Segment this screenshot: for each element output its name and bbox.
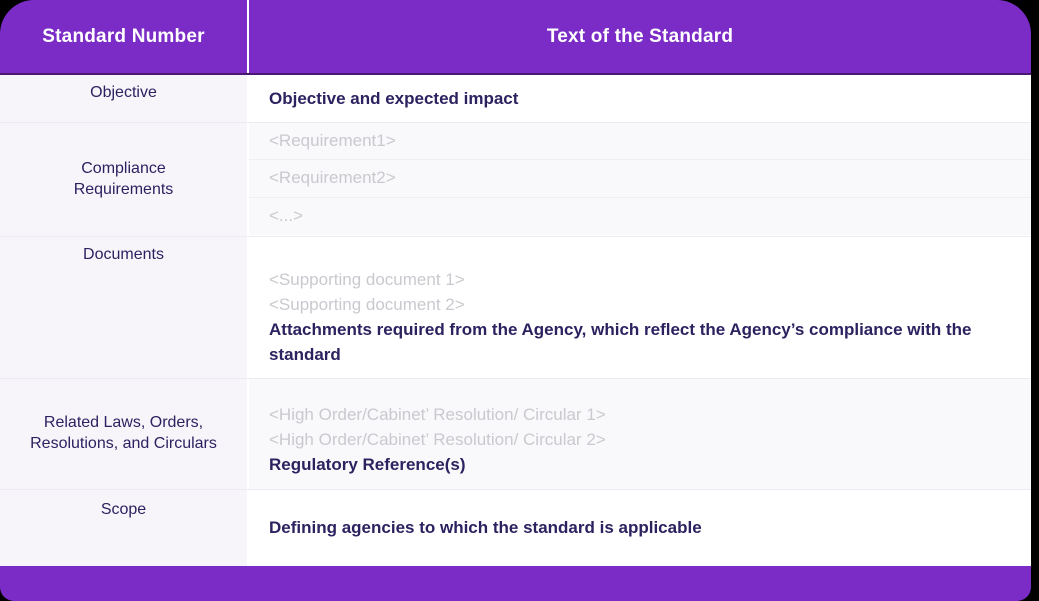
standard-template-table: Standard Number Text of the Standard Obj… <box>0 0 1034 589</box>
row-content-objective-cell: Objective and expected impact <box>249 75 1031 122</box>
list-item: <...> <box>249 198 1031 235</box>
table-row: Related Laws, Orders, Resolutions, and C… <box>0 379 1031 490</box>
table-row: Compliance Requirements <Requirement1> <… <box>0 123 1031 237</box>
row-content-compliance-cell: <Requirement1> <Requirement2> <...> <box>249 123 1031 236</box>
requirements-list: <Requirement1> <Requirement2> <...> <box>249 123 1031 236</box>
column-header-text-of-standard: Text of the Standard <box>249 0 1031 73</box>
row-content-related-laws: Regulatory Reference(s) <box>269 452 1009 477</box>
row-label-compliance-requirements-text: Compliance Requirements <box>74 159 174 201</box>
row-label-compliance-requirements: Compliance Requirements <box>0 123 249 236</box>
header-underline <box>0 73 1031 75</box>
supporting-document-placeholder-2: <Supporting document 2> <box>269 292 1009 317</box>
table-footer-bar <box>0 566 1031 601</box>
row-label-related-laws: Related Laws, Orders, Resolutions, and C… <box>0 379 249 489</box>
table-row: Objective Objective and expected impact <box>0 75 1031 123</box>
list-item: <Requirement1> <box>249 123 1031 160</box>
row-content-scope-cell: Defining agencies to which the standard … <box>249 490 1031 566</box>
requirement-placeholder-1: <Requirement1> <box>269 131 396 151</box>
row-label-scope: Scope <box>0 490 249 566</box>
row-content-objective: Objective and expected impact <box>269 89 518 109</box>
row-label-related-laws-text: Related Laws, Orders, Resolutions, and C… <box>18 413 229 455</box>
regulatory-reference-placeholder-2: <High Order/Cabinet’ Resolution/ Circula… <box>269 427 1009 452</box>
table-body: Objective Objective and expected impact … <box>0 75 1031 566</box>
row-label-objective: Objective <box>0 75 249 122</box>
table-header-row: Standard Number Text of the Standard <box>0 0 1031 73</box>
row-content-documents: Attachments required from the Agency, wh… <box>269 317 1009 367</box>
row-content-documents-cell: <Supporting document 1> <Supporting docu… <box>249 237 1031 378</box>
row-label-documents: Documents <box>0 237 249 378</box>
row-content-related-laws-cell: <High Order/Cabinet’ Resolution/ Circula… <box>249 379 1031 489</box>
column-header-standard-number: Standard Number <box>0 0 249 73</box>
supporting-document-placeholder-1: <Supporting document 1> <box>269 267 1009 292</box>
table-row: Scope Defining agencies to which the sta… <box>0 490 1031 566</box>
list-item: <Requirement2> <box>249 160 1031 197</box>
regulatory-reference-placeholder-1: <High Order/Cabinet’ Resolution/ Circula… <box>269 402 1009 427</box>
requirement-placeholder-more: <...> <box>269 206 303 226</box>
table-row: Documents <Supporting document 1> <Suppo… <box>0 237 1031 379</box>
requirement-placeholder-2: <Requirement2> <box>269 168 396 188</box>
row-content-scope: Defining agencies to which the standard … <box>269 518 702 538</box>
